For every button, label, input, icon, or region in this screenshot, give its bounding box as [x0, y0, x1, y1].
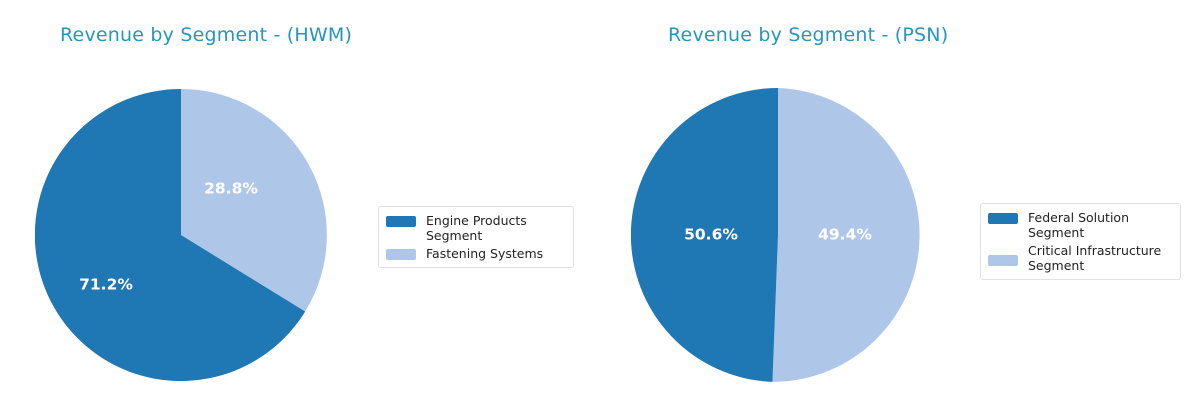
legend-label-engine-products-segment: Engine Products Segment [426, 213, 565, 243]
legend-swatch-icon-engine-products-segment [386, 216, 416, 227]
pie-svg-psn: 49.4% 50.6% [631, 88, 925, 382]
chart-title-psn: Revenue by Segment - (PSN) [668, 24, 948, 46]
pie-svg-hwm: 28.8% 71.2% [35, 89, 327, 381]
legend-swatch-icon-critical-infrastructure-segment [988, 255, 1018, 266]
legend-label-fastening-systems: Fastening Systems [426, 246, 543, 261]
pie-slice-label-engine-products-segment: 71.2% [79, 276, 133, 294]
legend-swatch-icon-fastening-systems [386, 249, 416, 260]
legend-label-critical-infrastructure-segment: Critical Infrastructure Segment [1028, 243, 1161, 273]
pie-chart-hwm: 28.8% 71.2% [35, 89, 327, 381]
legend-swatch-icon-federal-solution-segment [988, 213, 1018, 224]
pie-slice-label-critical-infrastructure-segment: 49.4% [818, 226, 872, 244]
pie-slice-label-federal-solution-segment: 50.6% [684, 226, 738, 244]
pie-slice-label-fastening-systems: 28.8% [204, 180, 258, 198]
legend-item-engine-products-segment[interactable]: Engine Products Segment [386, 213, 565, 243]
chart-panel-psn: Revenue by Segment - (PSN) 49.4% 50.6% F… [600, 0, 1200, 406]
chart-title-hwm: Revenue by Segment - (HWM) [60, 24, 352, 46]
legend-item-critical-infrastructure-segment[interactable]: Critical Infrastructure Segment [988, 243, 1172, 273]
legend-hwm: Engine Products Segment Fastening System… [378, 206, 574, 268]
legend-psn: Federal Solution Segment Critical Infras… [980, 203, 1181, 280]
chart-panel-hwm: Revenue by Segment - (HWM) 28.8% 71.2% E… [0, 0, 600, 406]
pie-chart-psn: 49.4% 50.6% [631, 88, 925, 382]
legend-item-fastening-systems[interactable]: Fastening Systems [386, 246, 565, 261]
legend-label-federal-solution-segment: Federal Solution Segment [1028, 210, 1172, 240]
legend-item-federal-solution-segment[interactable]: Federal Solution Segment [988, 210, 1172, 240]
